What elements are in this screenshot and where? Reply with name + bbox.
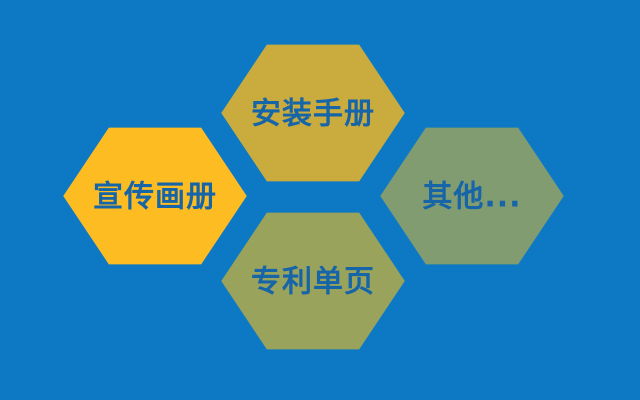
hexagon-label: 其他... <box>422 180 521 215</box>
hexagon-label: 专利单页 <box>251 265 375 300</box>
hexagon-label: 安装手册 <box>251 97 375 132</box>
hexagon-diagram-stage: 宣传画册 安装手册 专利单页 其他... <box>0 0 640 400</box>
hexagon-cluster-canvas: 宣传画册 安装手册 专利单页 其他... <box>0 0 640 400</box>
hexagon-label: 宣传画册 <box>93 180 217 215</box>
